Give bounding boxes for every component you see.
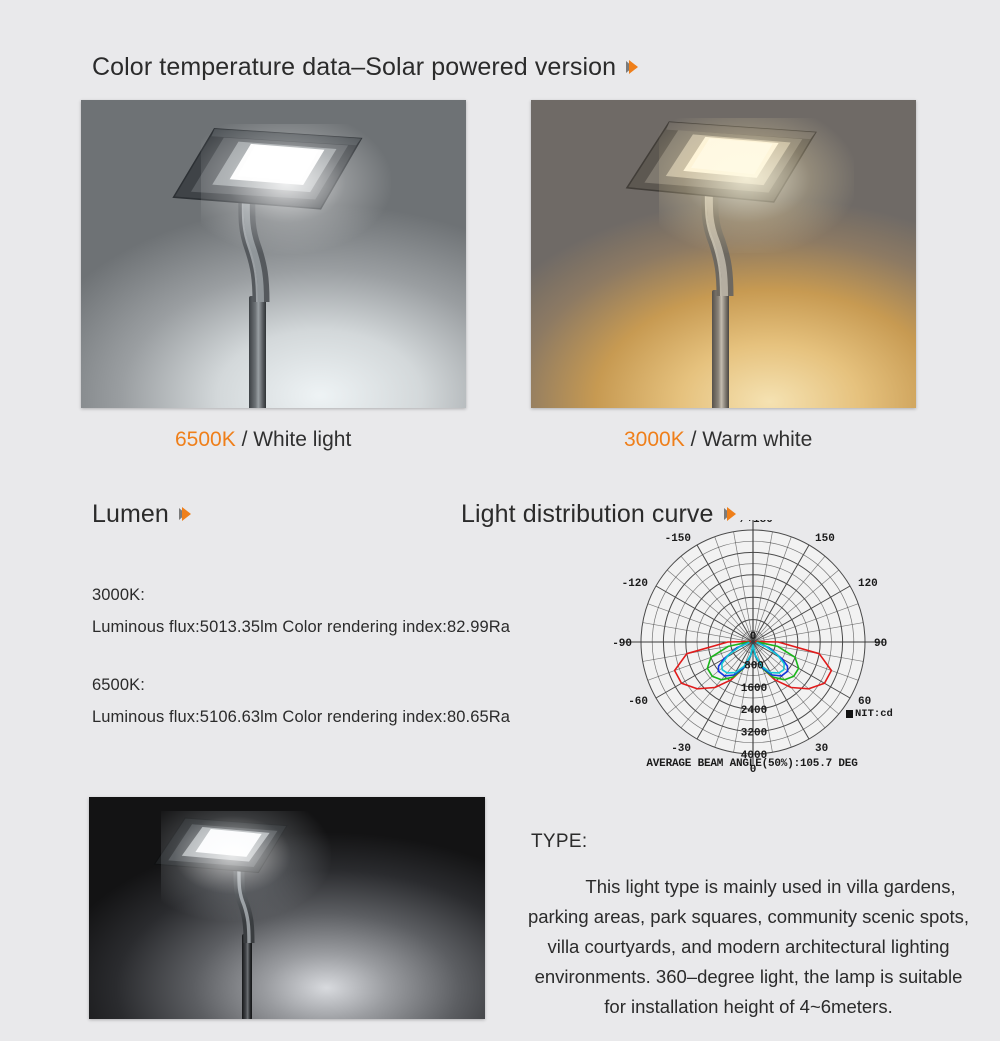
svg-text:-60: -60 [628, 696, 648, 708]
chart-unit-legend: NIT:cd [846, 708, 893, 720]
svg-text:120: 120 [858, 578, 878, 590]
svg-text:2400: 2400 [741, 705, 767, 717]
svg-text:3200: 3200 [741, 728, 767, 740]
svg-text:150: 150 [815, 533, 835, 545]
lumen-heading-label: Lumen [92, 500, 169, 529]
lumen-3000k-label: 3000K: [92, 586, 145, 605]
svg-text:-90: -90 [612, 638, 632, 650]
lumen-6500k-detail: Luminous flux:5106.63lm Color rendering … [92, 708, 510, 727]
svg-text:-120: -120 [622, 578, 648, 590]
svg-text:1600: 1600 [741, 683, 767, 695]
average-beam-angle-caption: AVERAGE BEAM ANGLE(50%):105.7 DEG [612, 758, 892, 770]
type-description: This light type is mainly used in villa … [527, 872, 970, 1022]
caption-kelvin-rest: / Warm white [685, 428, 813, 451]
orange-arrow-bullet-icon [626, 60, 643, 75]
lamp-white-light-photo [81, 100, 466, 408]
svg-text:60: 60 [858, 696, 871, 708]
svg-text:-150: -150 [665, 533, 691, 545]
svg-text:0: 0 [750, 631, 757, 643]
lamp-pole [249, 296, 266, 408]
lumen-3000k-detail: Luminous flux:5013.35lm Color rendering … [92, 618, 510, 637]
svg-text:90: 90 [874, 638, 887, 650]
lamp-night-view-photo [89, 797, 485, 1019]
svg-text:800: 800 [744, 660, 764, 672]
svg-text:30: 30 [815, 743, 828, 755]
color-temperature-heading: Color temperature data–Solar powered ver… [92, 53, 643, 82]
orange-arrow-bullet-icon [179, 507, 196, 522]
color-temperature-heading-label: Color temperature data–Solar powered ver… [92, 53, 616, 82]
caption-kelvin-value: 6500K [175, 428, 236, 451]
legend-unit-label: NIT:cd [855, 708, 893, 720]
caption-kelvin-rest: / White light [236, 428, 352, 451]
lamp-pole [712, 290, 729, 408]
legend-marker-icon [846, 710, 853, 718]
caption-3000k: 3000K / Warm white [624, 428, 812, 452]
caption-kelvin-value: 3000K [624, 428, 685, 451]
lamp-warm-white-photo [531, 100, 916, 408]
caption-6500k: 6500K / White light [175, 428, 351, 452]
lumen-heading: Lumen [92, 500, 196, 529]
svg-text:-/+180: -/+180 [733, 520, 773, 526]
lumen-6500k-label: 6500K: [92, 676, 145, 695]
type-label: TYPE: [531, 831, 587, 853]
svg-text:-30: -30 [671, 743, 691, 755]
polar-photometric-chart: -/+180-150150-120120-9090-6060-303000800… [612, 520, 892, 785]
